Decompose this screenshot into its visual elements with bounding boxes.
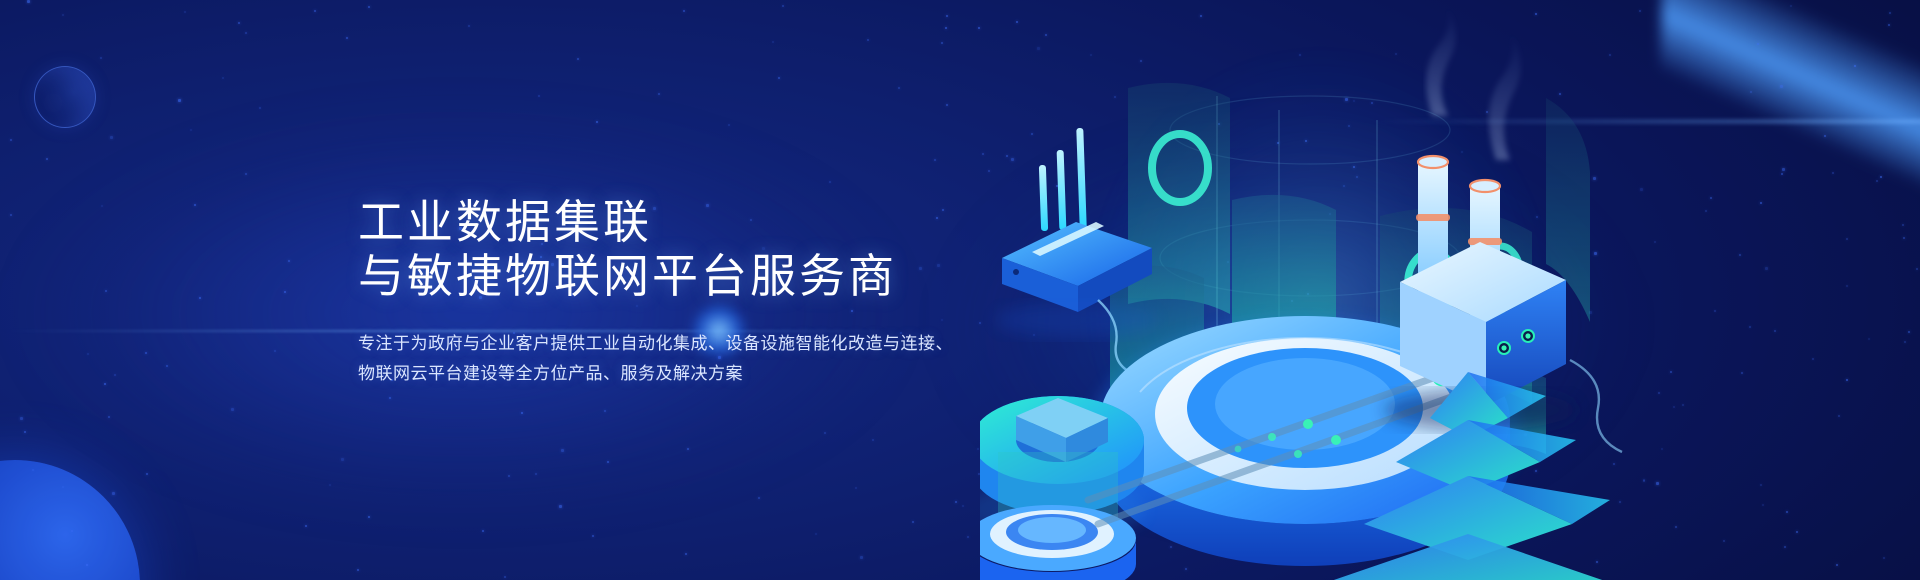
factory-cable	[1570, 360, 1622, 452]
hero-copy: 工业数据集联 与敏捷物联网平台服务商 专注于为政府与企业客户提供工业自动化集成、…	[358, 195, 953, 389]
smoke-plume-right	[1489, 28, 1521, 160]
router-port-icon	[1013, 269, 1019, 275]
hologram-beam-3	[1376, 120, 1378, 350]
page-subtitle-line1: 专注于为政府与企业客户提供工业自动化集成、设备设施智能化改造与连接、	[358, 329, 953, 359]
smokestack-right-rim	[1470, 180, 1500, 192]
hero-illustration	[980, 0, 1920, 580]
planet-icon	[0, 460, 140, 580]
page-title-line1: 工业数据集联	[358, 195, 953, 249]
router-shadow	[996, 302, 1156, 338]
hero-banner: 工业数据集联 与敏捷物联网平台服务商 专注于为政府与企业客户提供工业自动化集成、…	[0, 0, 1920, 580]
smokestack-left-band	[1416, 214, 1450, 221]
page-subtitle-line2: 物联网云平台建设等全方位产品、服务及解决方案	[358, 359, 953, 389]
smokestack-right-band	[1468, 238, 1502, 245]
crescent-moon-icon	[34, 66, 96, 128]
router-antennas	[1039, 128, 1087, 231]
smokestack-left-rim	[1418, 156, 1448, 168]
small-disc-core	[1018, 517, 1086, 543]
page-title-line2: 与敏捷物联网平台服务商	[358, 249, 953, 303]
